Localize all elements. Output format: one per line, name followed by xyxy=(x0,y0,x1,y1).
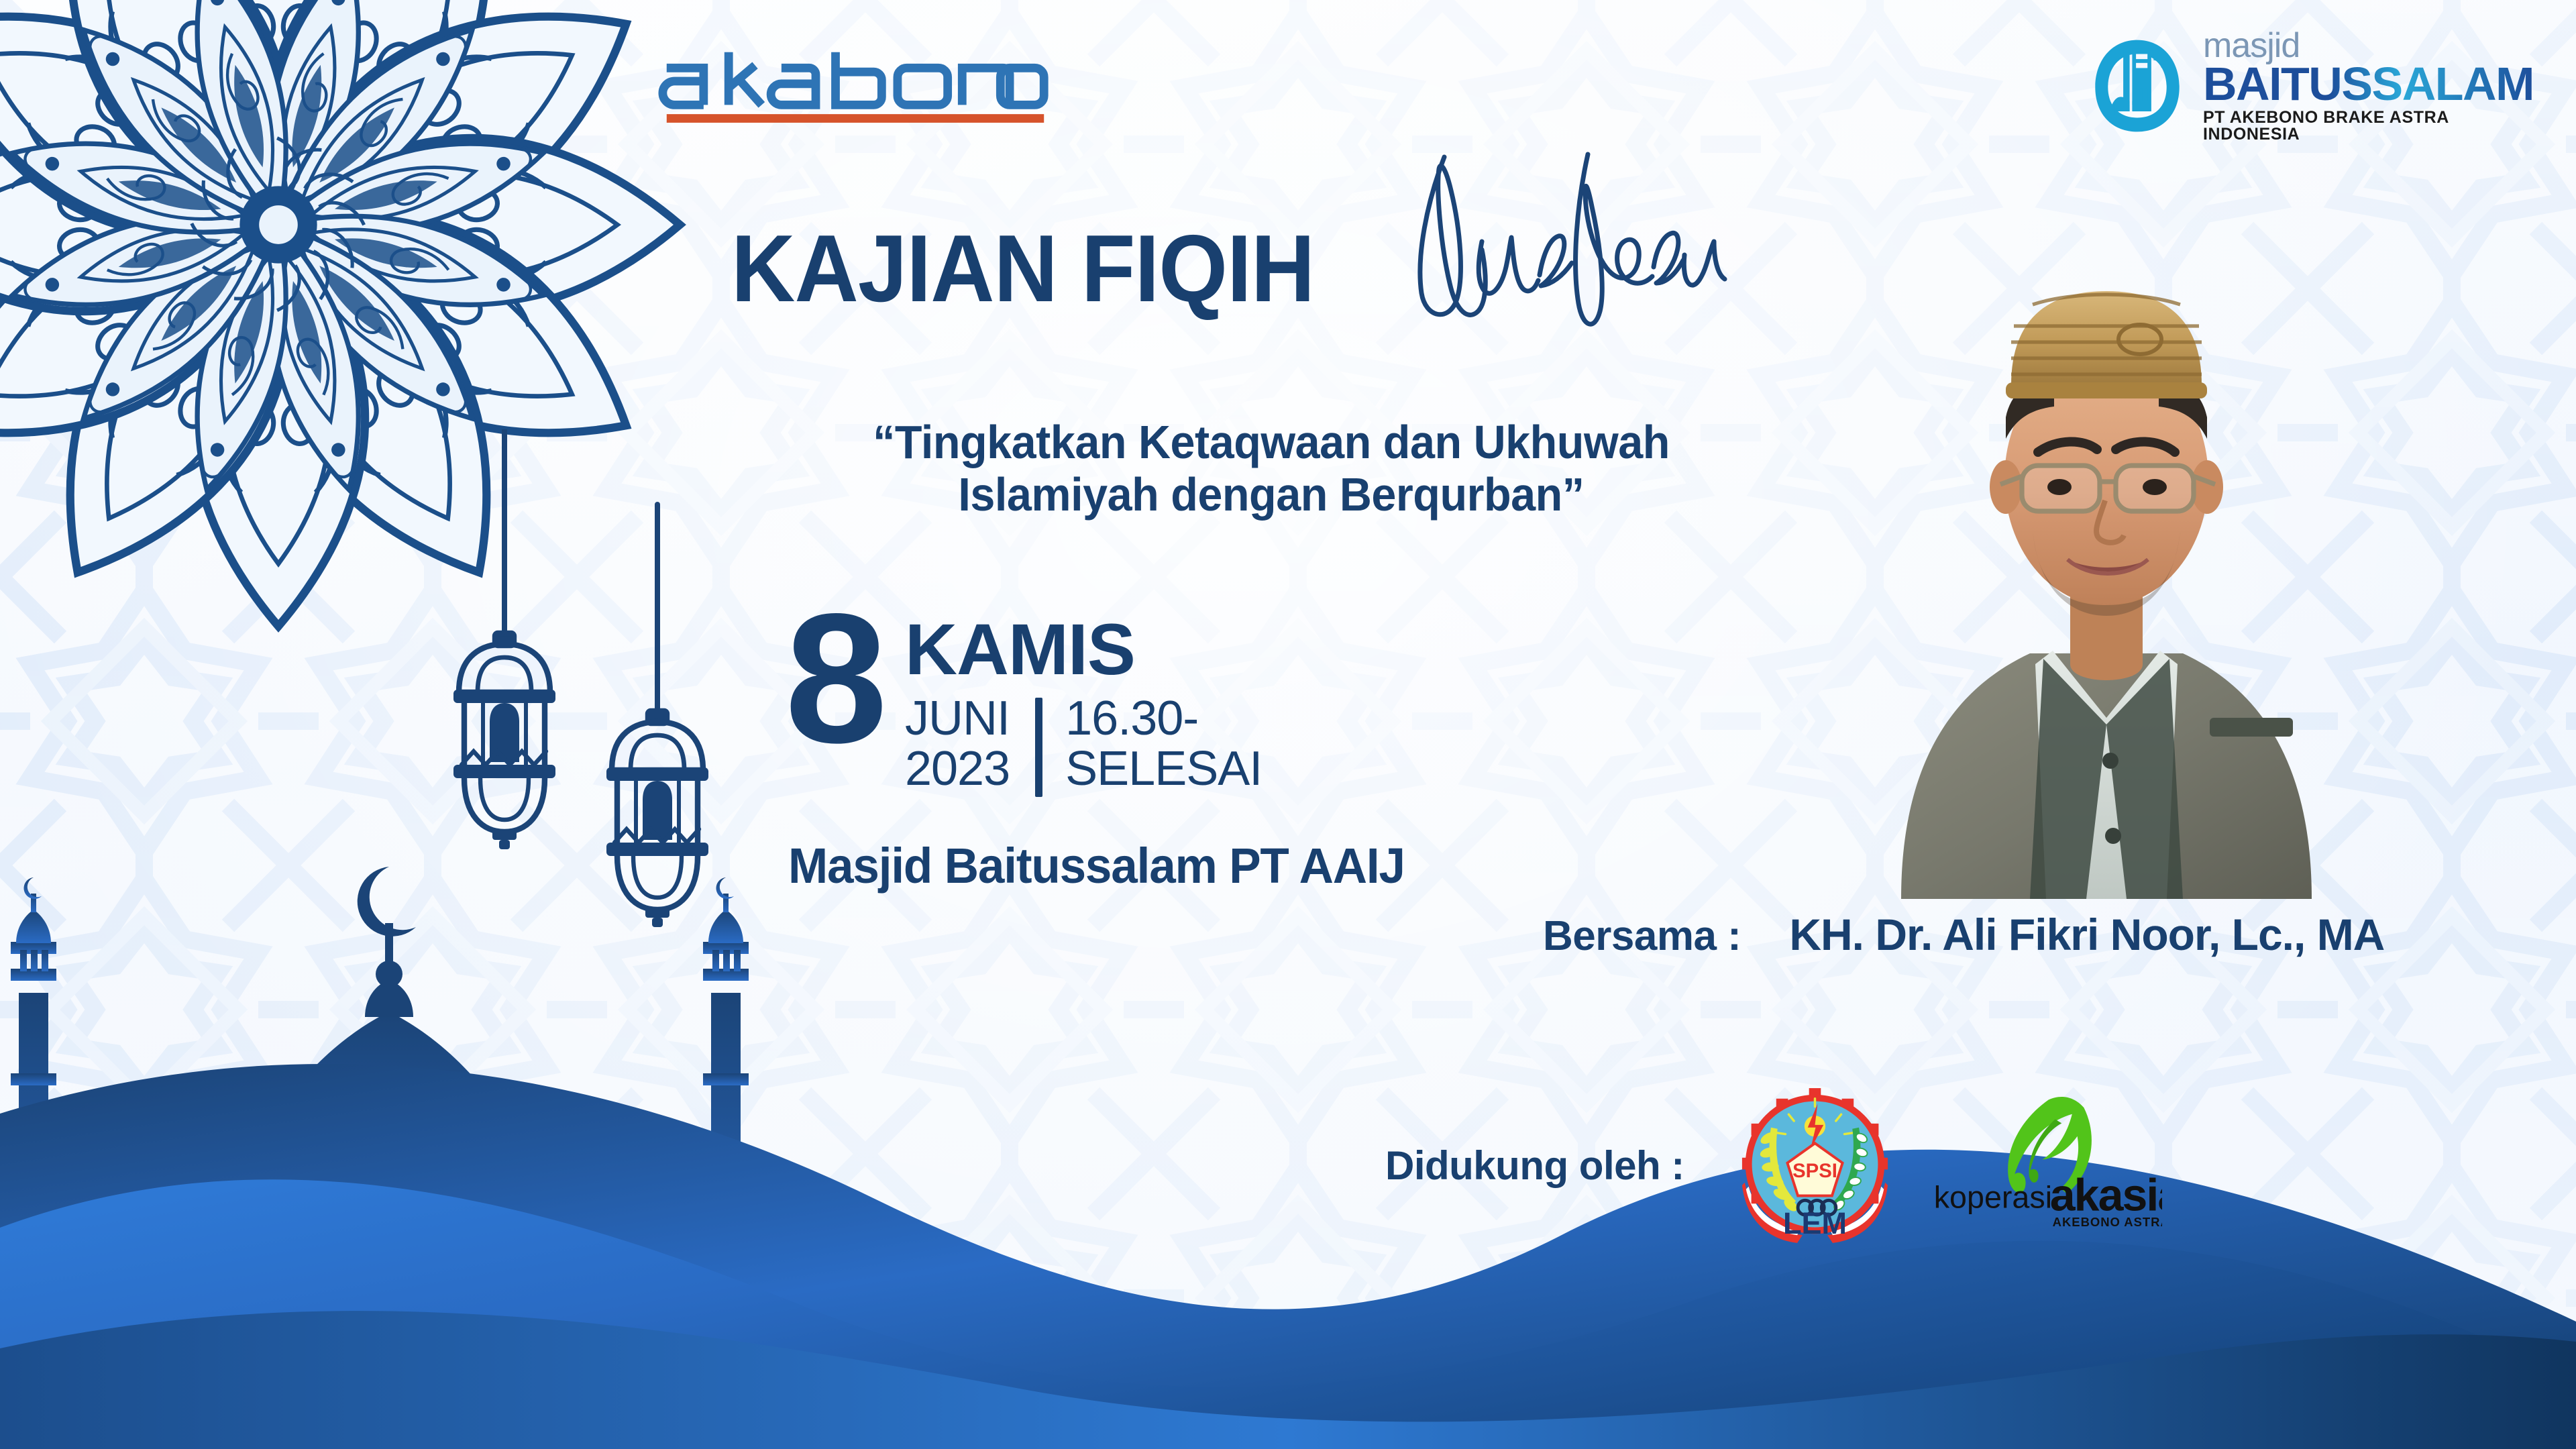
event-time: 16.30- SELESAI xyxy=(1065,694,1262,795)
crescent-finial xyxy=(358,867,416,936)
speaker-label: Bersama : xyxy=(1543,912,1741,960)
date-time-divider xyxy=(1035,698,1042,797)
akasia-word-light: koperasi xyxy=(1934,1179,2052,1214)
masjid-logo-text: masjid BAITUSSALAM PT AKEBONO BRAKE ASTR… xyxy=(2203,28,2534,143)
speaker-pocket xyxy=(2210,718,2293,737)
masjid-logo-mark xyxy=(2086,35,2188,137)
event-date-block: 8 KAMIS JUNI 2023 16.30- SELESAI xyxy=(785,607,1262,797)
akebono-brand-logo xyxy=(657,40,1053,126)
event-year: 2023 xyxy=(905,744,1010,795)
bottom-wave-decoration xyxy=(0,1033,2576,1449)
event-time-line2: SELESAI xyxy=(1065,744,1262,795)
speaker-name: KH. Dr. Ali Fikri Noor, Lc., MA xyxy=(1789,909,2384,960)
event-quote-line2: Islamiyah dengan Berqurban” xyxy=(752,468,1791,521)
event-quote: “Tingkatkan Ketaqwaan dan Ukhuwah Islami… xyxy=(752,416,1791,521)
event-date-details: KAMIS JUNI 2023 16.30- SELESAI xyxy=(905,615,1262,797)
spsi-ribbon-text: LEM xyxy=(1783,1206,1847,1240)
akebono-underline xyxy=(667,114,1044,123)
masjid-logo-line2: BAITUSSALAM xyxy=(2203,60,2534,107)
event-month-year: JUNI 2023 xyxy=(905,694,1010,795)
headline-script-qurban xyxy=(1387,142,1735,350)
akasia-word-bold: akasia xyxy=(2050,1169,2162,1220)
akebono-wordmark xyxy=(657,40,1053,126)
masjid-logo-line3: PT AKEBONO BRAKE ASTRA INDONESIA xyxy=(2203,109,2534,143)
headline-main: KAJIAN FIQIH xyxy=(731,221,1314,317)
akasia-tagline: AKEBONO ASTRA INDONESIA xyxy=(2052,1214,2161,1228)
event-time-line1: 16.30- xyxy=(1065,694,1262,745)
event-date-time-row: JUNI 2023 16.30- SELESAI xyxy=(905,694,1262,797)
spsi-pentagon-text: SPSI xyxy=(1792,1160,1837,1182)
speaker-songkok-cap xyxy=(2011,291,2202,385)
event-quote-line1: “Tingkatkan Ketaqwaan dan Ukhuwah xyxy=(752,416,1791,468)
event-day-number: 8 xyxy=(785,607,881,751)
speaker-row: Bersama : KH. Dr. Ali Fikri Noor, Lc., M… xyxy=(1543,909,2384,960)
event-day-name: KAMIS xyxy=(905,615,1262,684)
headline-row: KAJIAN FIQIH xyxy=(731,221,1735,350)
hanging-lantern-tall xyxy=(453,429,555,849)
spsi-lem-logo: SPSI LEM xyxy=(1739,1087,1890,1244)
masjid-baitussalam-logo: masjid BAITUSSALAM PT AKEBONO BRAKE ASTR… xyxy=(2086,34,2529,138)
event-month: JUNI xyxy=(905,694,1010,745)
event-venue: Masjid Baitussalam PT AAIJ xyxy=(788,837,1405,894)
speaker-photo xyxy=(1872,262,2341,899)
koperasi-akasia-logo: koperasi akasia AKEBONO ASTRA INDONESIA xyxy=(1927,1095,2162,1236)
supporters-row: Didukung oleh : xyxy=(1385,1087,2162,1244)
event-poster: masjid BAITUSSALAM PT AKEBONO BRAKE ASTR… xyxy=(0,0,2576,1449)
supporters-label: Didukung oleh : xyxy=(1385,1142,1684,1189)
